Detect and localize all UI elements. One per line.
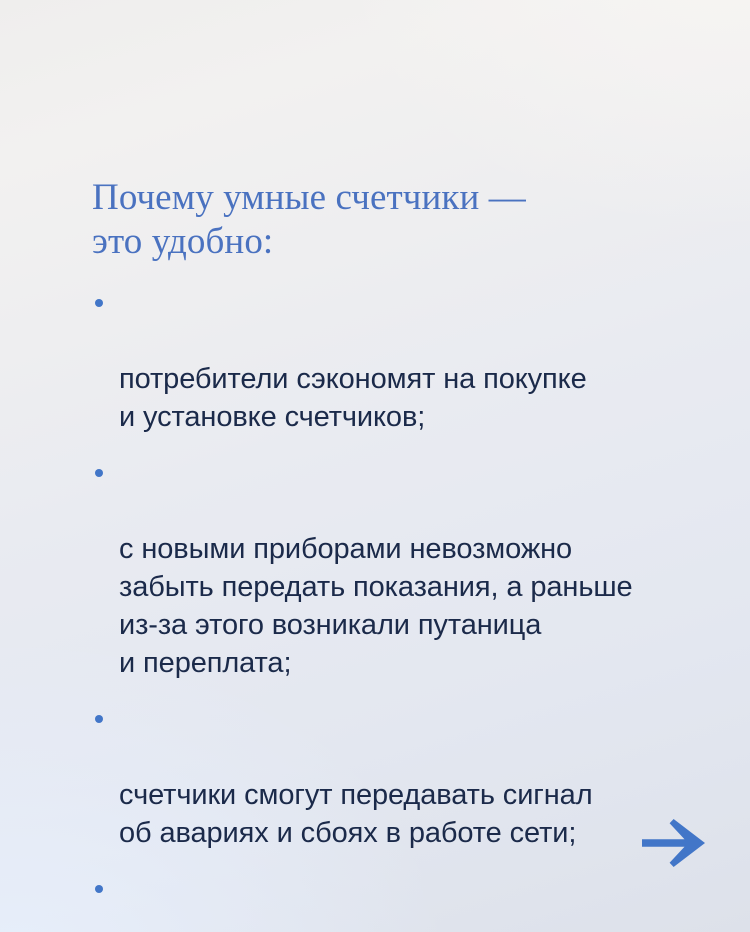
page-title: Почему умные счетчики — это удобно: [92,176,712,264]
list-item: потребители сэкономят на покупке и устан… [92,284,712,436]
slide-content: Почему умные счетчики — это удобно: потр… [92,176,712,932]
bullet-dot-icon [95,715,103,723]
list-item-text: счетчики смогут передавать сигнал об ава… [119,779,593,849]
list-item-text: потребители сэкономят на покупке и устан… [119,363,587,433]
next-slide-button[interactable] [638,814,710,872]
bullet-dot-icon [95,299,103,307]
list-item: можно будет следить за показателями онла… [92,870,712,932]
list-item-text: с новыми приборами невозможно забыть пер… [119,533,633,679]
bullet-dot-icon [95,885,103,893]
slide-canvas: Почему умные счетчики — это удобно: потр… [0,0,750,932]
arrow-right-icon [640,817,708,869]
benefits-list: потребители сэкономят на покупке и устан… [92,284,712,932]
bullet-dot-icon [95,469,103,477]
list-item: с новыми приборами невозможно забыть пер… [92,454,712,682]
list-item: счетчики смогут передавать сигнал об ава… [92,700,712,852]
